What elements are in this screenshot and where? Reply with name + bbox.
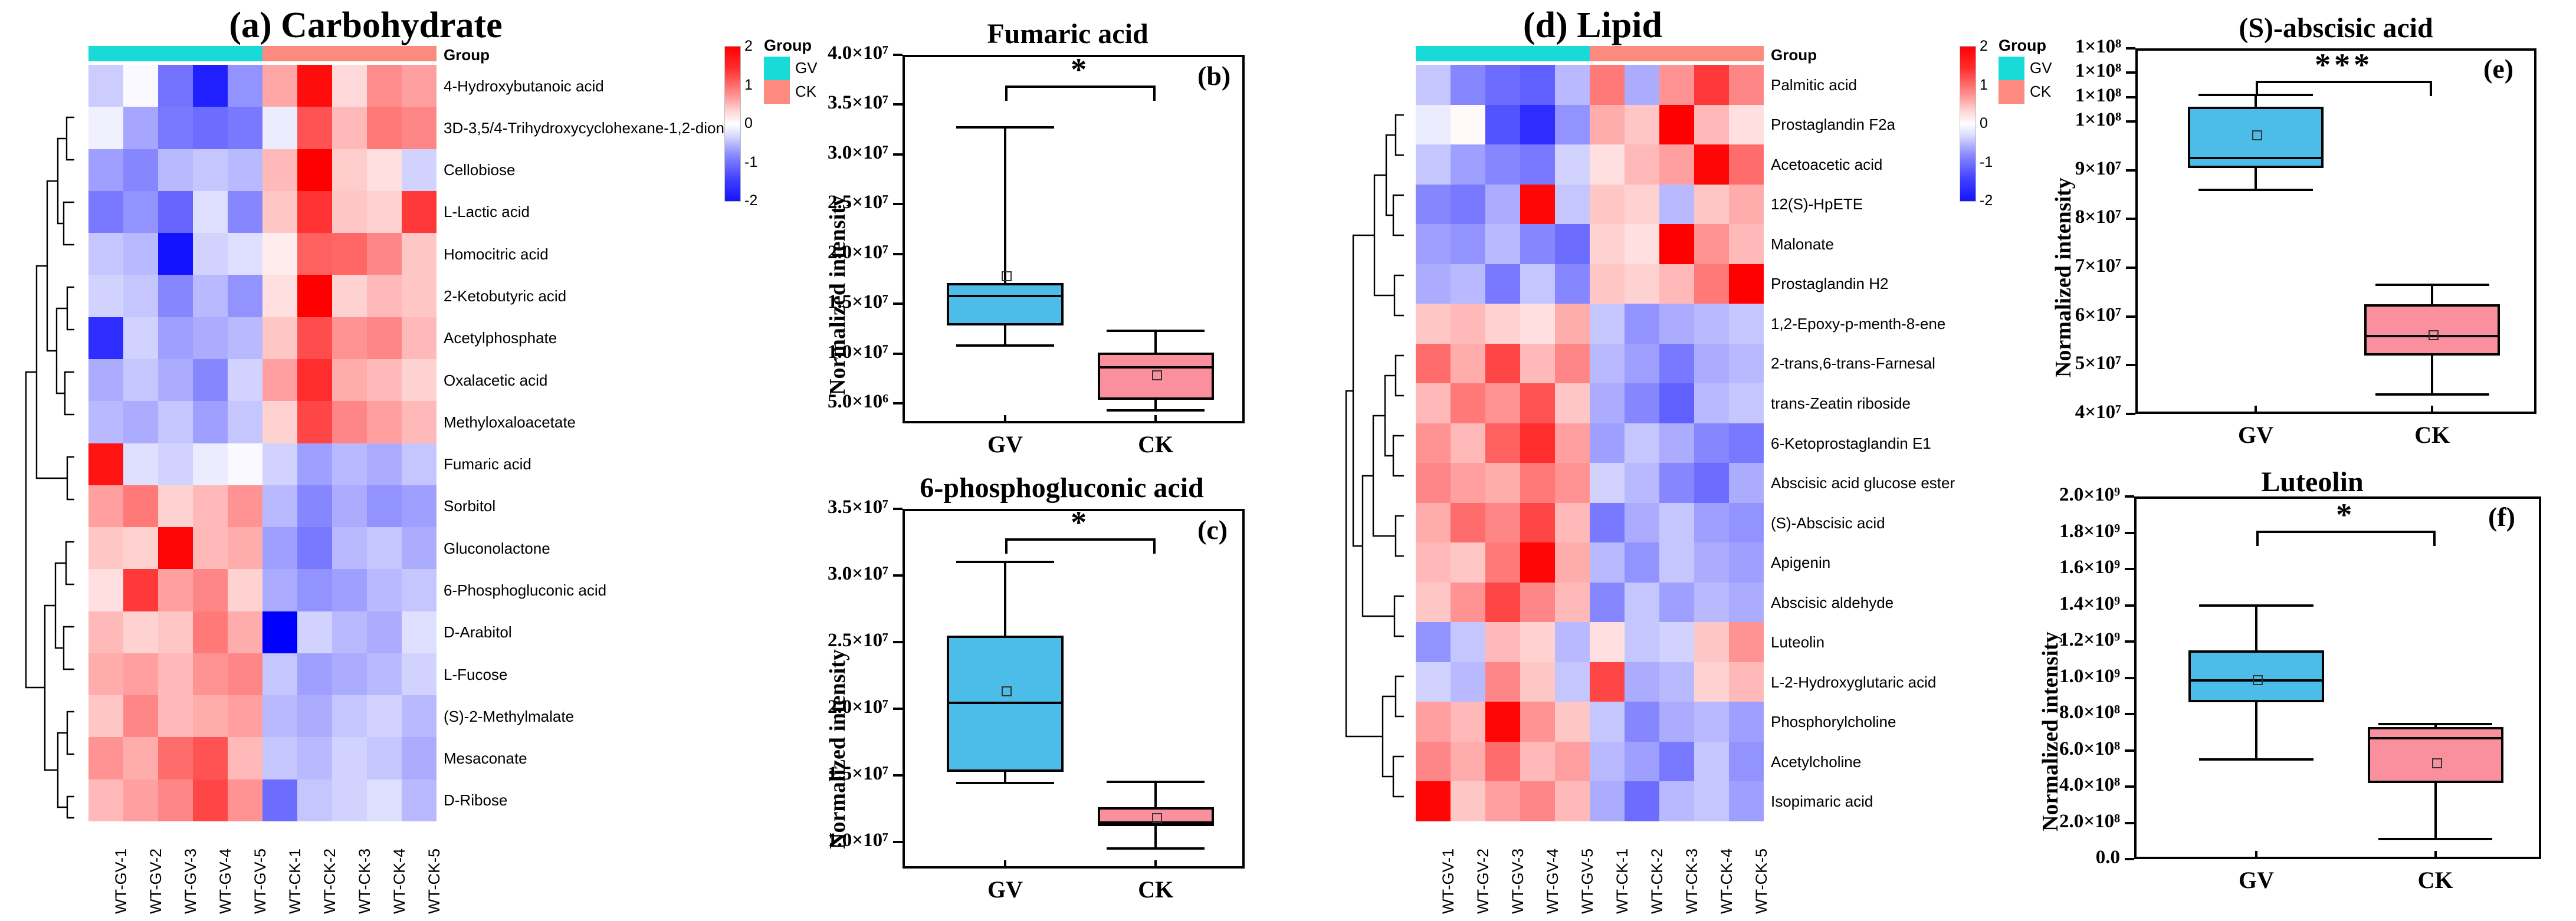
heatmap-cell [402, 275, 437, 317]
heatmap-cell [1729, 742, 1764, 782]
heatmap-cell [1416, 105, 1451, 145]
colorbar-tick: -1 [1980, 154, 1993, 171]
heatmap-cell [1520, 622, 1555, 662]
heatmap-cell [367, 401, 402, 443]
heatmap-cell [262, 779, 297, 821]
heatmap-cell [1520, 344, 1555, 384]
colorbar-tick: 1 [1980, 77, 1988, 94]
heatmap-cell [193, 401, 228, 443]
heatmap-cell [1659, 583, 1694, 623]
y-axis-tick-label: 7×10⁷ [2017, 255, 2121, 277]
heatmap-row-label: Isopimaric acid [1771, 794, 1873, 809]
heatmap-cell [297, 359, 332, 401]
heatmap-cell [158, 233, 193, 275]
heatmap-cell [262, 695, 297, 737]
y-axis-tick-label: 2.0×10⁹ [2016, 484, 2120, 506]
colorbar-tick: 0 [744, 115, 753, 132]
heatmap-cell [1625, 224, 1659, 264]
heatmap-cell [1590, 622, 1625, 662]
heatmap-cell [158, 191, 193, 233]
heatmap-row-label: Acetylcholine [1771, 754, 1861, 769]
heatmap-row-label: 4-Hydroxybutanoic acid [444, 78, 604, 94]
y-axis-tick-label: 1.4×10⁹ [2016, 593, 2120, 615]
y-axis-tick [893, 353, 903, 355]
heatmap-row-label: L-2-Hydroxyglutaric acid [1771, 675, 1936, 690]
x-axis-tick-label: CK [2385, 421, 2479, 449]
heatmap-cell [1485, 583, 1520, 623]
significance-bracket [903, 509, 1245, 869]
colorbar-tick: -2 [1980, 192, 1993, 209]
y-axis-tick-label: 4×10⁷ [2017, 402, 2121, 423]
heatmap-cell [1555, 65, 1590, 105]
heatmap-cell [402, 65, 437, 107]
heatmap-cell [367, 737, 402, 779]
heatmap-cell [1729, 105, 1764, 145]
heatmap-cell [1729, 781, 1764, 821]
y-axis-tick [2125, 858, 2134, 860]
heatmap-cell [297, 527, 332, 569]
heatmap-column-label: WT-GV-4 [1544, 848, 1562, 914]
heatmap-cell [1659, 383, 1694, 423]
colorbar-tick: 0 [1980, 115, 1988, 132]
y-axis-tick [893, 402, 903, 404]
heatmap-cell [1520, 742, 1555, 782]
heatmap-cell [228, 653, 262, 695]
heatmap-cell [88, 317, 123, 359]
heatmap-cell [297, 569, 332, 611]
colorbar-tick: 2 [744, 38, 753, 55]
heatmap-cell [332, 527, 367, 569]
heatmap-column-label: WT-CK-4 [1718, 848, 1736, 914]
heatmap-column-label: WT-GV-1 [1439, 848, 1458, 914]
heatmap-cell [88, 107, 123, 149]
heatmap-cell [1694, 185, 1729, 225]
heatmap-cell [88, 443, 123, 485]
y-axis-tick [2126, 413, 2135, 415]
heatmap-cell [1451, 742, 1485, 782]
heatmap-cell [1659, 65, 1694, 105]
heatmap-cell [1451, 224, 1485, 264]
panel-f: Luteolin Normalized intensity 0.02.0×10⁸… [2029, 466, 2572, 920]
heatmap-cell [1451, 503, 1485, 543]
heatmap-cell [297, 779, 332, 821]
heatmap-cell [1590, 383, 1625, 423]
heatmap-cell [1416, 542, 1451, 583]
panel-c-title: 6-phosphogluconic acid [855, 472, 1268, 504]
heatmap-cell [193, 569, 228, 611]
heatmap-column-label: WT-CK-5 [1753, 848, 1771, 914]
heatmap-cell [262, 611, 297, 653]
heatmap-cell [1729, 622, 1764, 662]
significance-marker: * [2311, 496, 2381, 533]
heatmap-cell [1694, 144, 1729, 185]
heatmap-column-label: WT-CK-1 [286, 848, 304, 914]
heatmap-row-label: Sorbitol [444, 498, 495, 514]
heatmap-cell [1729, 344, 1764, 384]
heatmap-cell [158, 317, 193, 359]
heatmap-cell [228, 149, 262, 191]
heatmap-row-label: Gluconolactone [444, 541, 550, 556]
y-axis-tick-label: 1.5×10⁷ [785, 763, 888, 785]
y-axis-tick [893, 253, 903, 255]
heatmap-cell [228, 107, 262, 149]
heatmap-cell [228, 233, 262, 275]
heatmap-row-label: 2-Ketobutyric acid [444, 288, 566, 304]
heatmap-cell [1590, 662, 1625, 702]
heatmap-cell [1555, 144, 1590, 185]
x-axis-tick-label: GV [2209, 421, 2303, 449]
heatmap-cell [1520, 583, 1555, 623]
panel-b-tag: (b) [1197, 60, 1230, 91]
y-axis-tick [893, 641, 903, 643]
heatmap-cell [1555, 383, 1590, 423]
heatmap-cell [1659, 702, 1694, 742]
heatmap-row-label: Cellobiose [444, 162, 515, 177]
y-axis-tick-label: 1.0×10⁷ [785, 341, 888, 363]
heatmap-cell [1520, 105, 1555, 145]
heatmap-cell [1416, 423, 1451, 463]
y-axis-tick-label: 3.0×10⁷ [785, 563, 888, 585]
heatmap-cell [88, 233, 123, 275]
heatmap-cell [1555, 423, 1590, 463]
heatmap-cell [262, 737, 297, 779]
y-axis-tick [2125, 785, 2134, 788]
heatmap-cell [1451, 264, 1485, 304]
heatmap-cell [1694, 503, 1729, 543]
heatmap-cell [1694, 383, 1729, 423]
heatmap-column-label: WT-GV-5 [251, 848, 270, 914]
heatmap-cell [1485, 224, 1520, 264]
heatmap-cell [1555, 463, 1590, 503]
heatmap-cell [158, 695, 193, 737]
y-axis-tick [893, 841, 903, 843]
y-axis-tick [2126, 96, 2135, 98]
heatmap-cell [1416, 781, 1451, 821]
heatmap-cell [262, 317, 297, 359]
heatmap-cell [297, 107, 332, 149]
heatmap-cell [332, 191, 367, 233]
heatmap-cell [1520, 423, 1555, 463]
heatmap-row-label: 6-Phosphogluconic acid [444, 583, 606, 598]
heatmap-cell [1520, 463, 1555, 503]
y-axis-tick-label: 1×10⁸ [2017, 109, 2121, 131]
y-axis-tick-label: 8×10⁷ [2017, 206, 2121, 228]
heatmap-row-label: L-Lactic acid [444, 204, 530, 219]
panel-a-row-dendrogram [11, 56, 87, 823]
heatmap-column-label: WT-CK-3 [356, 848, 374, 914]
y-axis-tick [893, 302, 903, 305]
heatmap-cell [1451, 65, 1485, 105]
panel-f-tag: (f) [2488, 501, 2515, 532]
y-axis-tick [2126, 120, 2135, 123]
heatmap-cell [1625, 105, 1659, 145]
group-bar-gv [88, 46, 262, 61]
heatmap-cell [1659, 662, 1694, 702]
heatmap-cell [1451, 542, 1485, 583]
heatmap-cell [297, 275, 332, 317]
heatmap-cell [228, 401, 262, 443]
heatmap-cell [1590, 781, 1625, 821]
heatmap-cell [123, 527, 158, 569]
heatmap-cell [262, 65, 297, 107]
panel-c-tag: (c) [1197, 514, 1228, 545]
heatmap-cell [123, 611, 158, 653]
heatmap-cell [402, 695, 437, 737]
heatmap-cell [1729, 702, 1764, 742]
y-axis-tick-label: 3.5×10⁷ [785, 496, 888, 518]
heatmap-cell [402, 653, 437, 695]
heatmap-row-label: Methyloxaloacetate [444, 415, 576, 430]
heatmap-cell [1625, 583, 1659, 623]
heatmap-column-label: WT-GV-1 [112, 848, 130, 914]
heatmap-cell [262, 443, 297, 485]
heatmap-cell [1555, 583, 1590, 623]
heatmap-cell [193, 443, 228, 485]
panel-a-col-labels: WT-GV-1WT-GV-2WT-GV-3WT-GV-4WT-GV-5WT-CK… [88, 825, 437, 920]
y-axis-tick-label: 1×10⁸ [2017, 85, 2121, 107]
heatmap-cell [123, 317, 158, 359]
heatmap-cell [1416, 702, 1451, 742]
heatmap-cell [193, 737, 228, 779]
panel-d-row-dendrogram [1339, 56, 1416, 823]
heatmap-cell [1694, 702, 1729, 742]
heatmap-cell [228, 275, 262, 317]
heatmap-cell [1659, 264, 1694, 304]
heatmap-cell [367, 317, 402, 359]
heatmap-cell [1625, 423, 1659, 463]
heatmap-column-label: WT-CK-5 [425, 848, 444, 914]
y-axis-tick-label: 3.0×10⁷ [785, 142, 888, 164]
heatmap-cell [193, 695, 228, 737]
figure-root: (a) Carbohydrate Group 4-Hydroxybutano [0, 0, 2576, 921]
heatmap-cell [1590, 65, 1625, 105]
heatmap-cell [367, 275, 402, 317]
heatmap-cell [1625, 742, 1659, 782]
y-axis-tick-label: 5×10⁷ [2017, 353, 2121, 374]
heatmap-cell [402, 485, 437, 527]
heatmap-cell [1520, 304, 1555, 344]
panel-d-colorbar [1960, 46, 1976, 202]
heatmap-column-label: WT-GV-2 [147, 848, 165, 914]
heatmap-cell [1694, 662, 1729, 702]
heatmap-cell [1451, 622, 1485, 662]
heatmap-cell [1416, 304, 1451, 344]
heatmap-cell [1520, 542, 1555, 583]
heatmap-cell [1694, 105, 1729, 145]
heatmap-cell [1416, 622, 1451, 662]
heatmap-cell [88, 65, 123, 107]
heatmap-cell [158, 569, 193, 611]
heatmap-cell [1555, 742, 1590, 782]
heatmap-cell [158, 107, 193, 149]
heatmap-cell [1659, 105, 1694, 145]
heatmap-cell [367, 443, 402, 485]
heatmap-cell [402, 569, 437, 611]
heatmap-row-label: Acetoacetic acid [1771, 157, 1882, 172]
y-axis-tick-label: 6.0×10⁸ [2016, 738, 2120, 760]
group-bar-gv [1416, 46, 1590, 61]
heatmap-cell [402, 107, 437, 149]
heatmap-cell [402, 191, 437, 233]
heatmap-cell [1694, 742, 1729, 782]
heatmap-cell [297, 233, 332, 275]
heatmap-row-label: Abscisic aldehyde [1771, 595, 1894, 610]
y-axis-tick [2125, 495, 2134, 498]
heatmap-row-label: trans-Zeatin riboside [1771, 396, 1911, 411]
heatmap-cell [1729, 542, 1764, 583]
heatmap-cell [297, 65, 332, 107]
heatmap-cell [297, 443, 332, 485]
heatmap-cell [123, 569, 158, 611]
panel-a-heatmap [88, 65, 437, 821]
heatmap-cell [158, 65, 193, 107]
y-axis-tick-label: 6×10⁷ [2017, 304, 2121, 326]
panel-d-group-bar [1416, 46, 1764, 61]
heatmap-cell [193, 107, 228, 149]
heatmap-cell [1625, 383, 1659, 423]
heatmap-cell [1485, 622, 1520, 662]
x-axis-tick-label: GV [958, 876, 1052, 903]
heatmap-cell [158, 275, 193, 317]
heatmap-cell [1625, 304, 1659, 344]
heatmap-cell [1729, 583, 1764, 623]
heatmap-cell [1451, 423, 1485, 463]
y-axis-tick [893, 103, 903, 106]
heatmap-row-label: D-Arabitol [444, 624, 512, 640]
panel-c: 6-phosphogluconic acid Normalized intens… [820, 472, 1256, 920]
heatmap-cell [402, 401, 437, 443]
y-axis-tick [2126, 169, 2135, 172]
panel-a-title: (a) Carbohydrate [71, 5, 661, 47]
heatmap-cell [158, 653, 193, 695]
panel-d-colorbar-ticks: 210-1-2 [1977, 46, 2001, 200]
heatmap-cell [1590, 224, 1625, 264]
heatmap-cell [1590, 144, 1625, 185]
heatmap-row-label: (S)-Abscisic acid [1771, 515, 1885, 531]
x-axis-tick-label: CK [1108, 876, 1203, 903]
heatmap-cell [123, 695, 158, 737]
heatmap-cell [402, 149, 437, 191]
heatmap-cell [1520, 702, 1555, 742]
heatmap-column-label: WT-CK-3 [1683, 848, 1701, 914]
heatmap-cell [297, 737, 332, 779]
heatmap-cell [367, 695, 402, 737]
heatmap-cell [88, 611, 123, 653]
heatmap-cell [1694, 781, 1729, 821]
heatmap-cell [367, 527, 402, 569]
heatmap-cell [88, 737, 123, 779]
heatmap-cell [1451, 781, 1485, 821]
heatmap-cell [297, 317, 332, 359]
heatmap-cell [1485, 185, 1520, 225]
heatmap-cell [228, 737, 262, 779]
heatmap-cell [1416, 224, 1451, 264]
heatmap-cell [297, 485, 332, 527]
heatmap-column-label: WT-GV-3 [1509, 848, 1527, 914]
y-axis-tick [2125, 749, 2134, 752]
heatmap-row-label: Apigenin [1771, 555, 1830, 570]
heatmap-cell [1485, 423, 1520, 463]
heatmap-cell [367, 107, 402, 149]
significance-bracket [2134, 496, 2541, 859]
heatmap-cell [402, 443, 437, 485]
heatmap-cell [1485, 65, 1520, 105]
heatmap-cell [367, 569, 402, 611]
heatmap-row-label: Phosphorylcholine [1771, 714, 1896, 729]
heatmap-cell [332, 569, 367, 611]
heatmap-cell [1694, 264, 1729, 304]
heatmap-cell [193, 233, 228, 275]
heatmap-cell [123, 443, 158, 485]
heatmap-cell [1555, 304, 1590, 344]
heatmap-cell [1625, 542, 1659, 583]
heatmap-cell [332, 779, 367, 821]
heatmap-cell [1625, 65, 1659, 105]
heatmap-row-label: 12(S)-HpETE [1771, 196, 1863, 212]
heatmap-cell [1485, 662, 1520, 702]
heatmap-cell [332, 359, 367, 401]
heatmap-row-label: Prostaglandin H2 [1771, 276, 1888, 291]
heatmap-cell [1416, 383, 1451, 423]
heatmap-cell [1520, 662, 1555, 702]
heatmap-cell [1451, 583, 1485, 623]
y-axis-tick-label: 1.6×10⁹ [2016, 557, 2120, 578]
heatmap-row-label: Palmitic acid [1771, 77, 1857, 93]
heatmap-cell [1659, 463, 1694, 503]
y-axis-tick-label: 1×10⁸ [2017, 60, 2121, 82]
heatmap-cell [262, 569, 297, 611]
heatmap-cell [1485, 105, 1520, 145]
heatmap-column-label: WT-CK-2 [1648, 848, 1666, 914]
y-axis-tick-label: 8.0×10⁸ [2016, 702, 2120, 723]
heatmap-cell [1485, 463, 1520, 503]
x-axis-tick-label: CK [1108, 430, 1203, 458]
heatmap-column-label: WT-GV-3 [182, 848, 200, 914]
heatmap-cell [123, 653, 158, 695]
heatmap-cell [228, 485, 262, 527]
heatmap-cell [402, 611, 437, 653]
heatmap-cell [88, 275, 123, 317]
heatmap-cell [1625, 503, 1659, 543]
heatmap-cell [88, 653, 123, 695]
heatmap-cell [1485, 344, 1520, 384]
heatmap-cell [1694, 542, 1729, 583]
heatmap-cell [262, 149, 297, 191]
significance-marker: * [1045, 51, 1116, 88]
heatmap-cell [1520, 264, 1555, 304]
panel-e-title: (S)-abscisic acid [2159, 12, 2513, 44]
y-axis-tick-label: 3.5×10⁷ [785, 92, 888, 114]
heatmap-cell [158, 779, 193, 821]
heatmap-cell [1555, 702, 1590, 742]
y-axis-tick-label: 9×10⁷ [2017, 158, 2121, 180]
heatmap-cell [1729, 264, 1764, 304]
heatmap-row-label: Homocitric acid [444, 246, 549, 262]
panel-b: Fumaric acid Normalized intensity 5.0×10… [820, 18, 1256, 466]
heatmap-cell [262, 527, 297, 569]
y-axis-tick [2125, 822, 2134, 824]
heatmap-cell [1590, 742, 1625, 782]
heatmap-cell [1520, 383, 1555, 423]
panel-e-tag: (e) [2483, 53, 2513, 84]
heatmap-cell [193, 653, 228, 695]
y-axis-tick [2125, 640, 2134, 643]
heatmap-cell [123, 65, 158, 107]
heatmap-cell [1625, 463, 1659, 503]
heatmap-cell [1694, 423, 1729, 463]
heatmap-cell [158, 485, 193, 527]
heatmap-cell [1659, 304, 1694, 344]
